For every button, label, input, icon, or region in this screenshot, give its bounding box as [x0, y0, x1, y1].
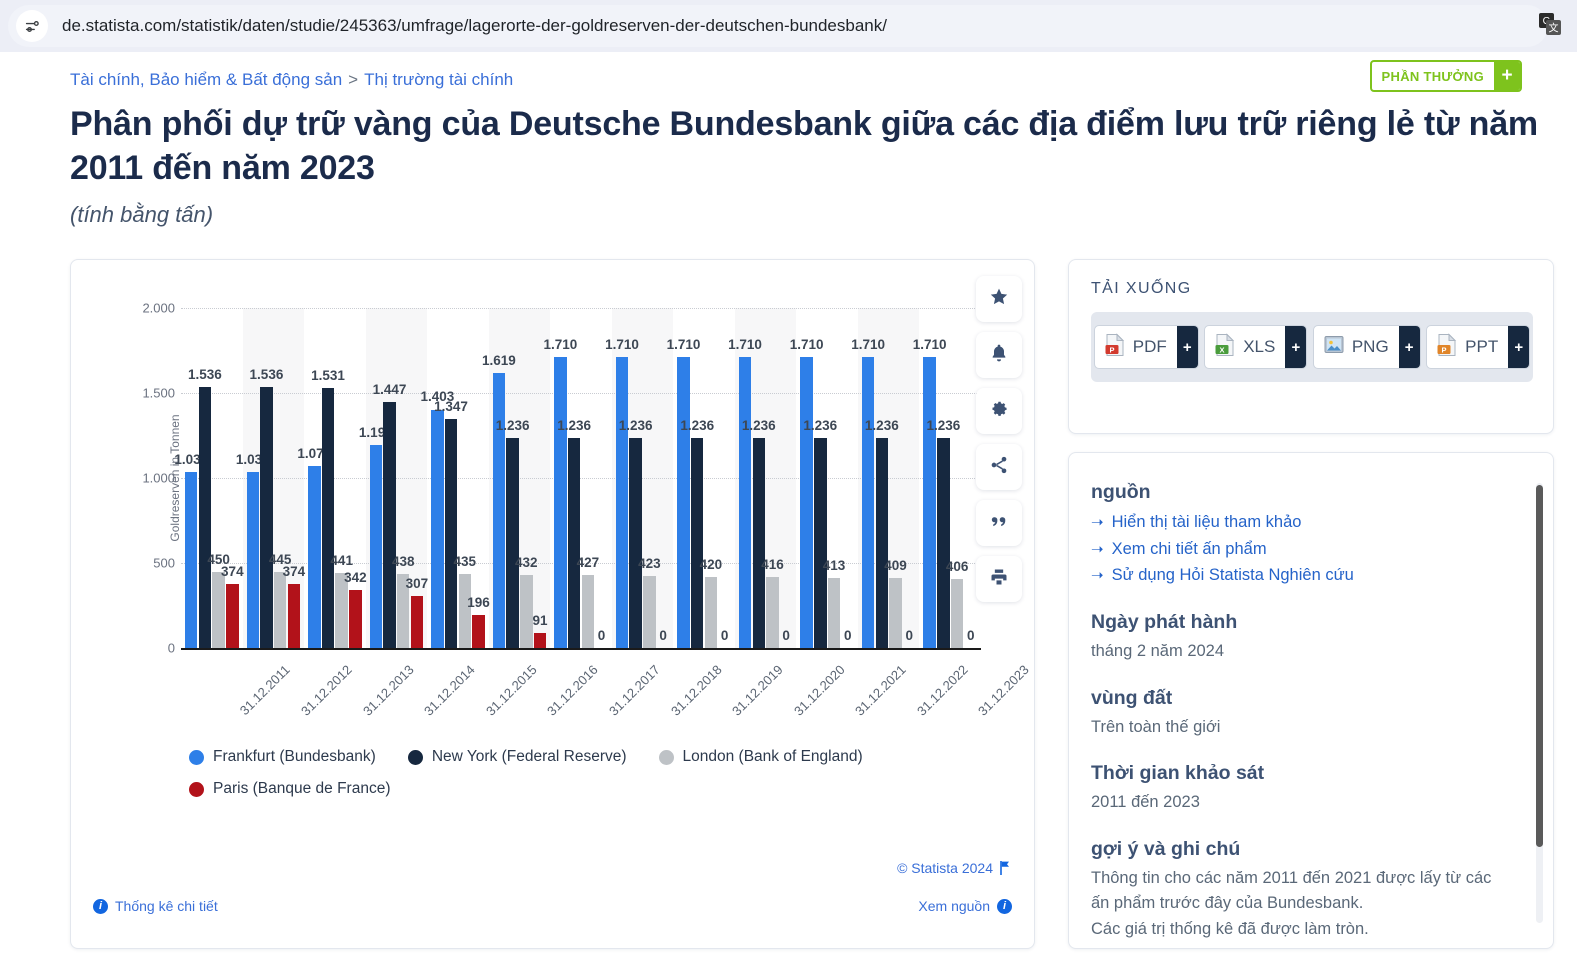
- chart-tool-buttons: [976, 276, 1022, 602]
- release-date-heading: Ngày phát hành: [1091, 611, 1501, 634]
- legend-label: London (Bank of England): [683, 748, 863, 766]
- notes-heading: gợi ý và ghi chú: [1091, 838, 1501, 861]
- chart-bar[interactable]: [459, 574, 472, 648]
- scrollbar-thumb[interactable]: [1536, 485, 1543, 847]
- download-card: TẢI XUỐNG PPDF+XXLS+PNG+PPPT+: [1068, 259, 1554, 434]
- legend-item[interactable]: London (Bank of England): [659, 748, 863, 766]
- chart-bar-value-label: 432: [498, 555, 554, 570]
- flag-icon[interactable]: [1000, 861, 1012, 875]
- download-ppt-button[interactable]: PPPT+: [1426, 325, 1530, 369]
- legend-item[interactable]: Paris (Banque de France): [189, 780, 390, 798]
- detail-stats-link[interactable]: i Thống kê chi tiết: [93, 898, 218, 914]
- chart-bar-value-label: 1.710: [594, 337, 650, 352]
- source-link-1[interactable]: ➝ Xem chi tiết ấn phẩm: [1091, 536, 1501, 563]
- x-axis-tick-label: 31.12.2022: [914, 662, 971, 719]
- chart-bar[interactable]: [629, 438, 642, 648]
- bell-icon: [989, 343, 1009, 368]
- chart-bar[interactable]: [800, 357, 813, 648]
- download-options-plus[interactable]: +: [1399, 326, 1420, 368]
- pdf-file-icon: P: [1104, 333, 1126, 362]
- url-text: de.statista.com/statistik/daten/studie/2…: [62, 16, 887, 36]
- chart-bar[interactable]: [288, 584, 301, 648]
- settings-button[interactable]: [976, 388, 1022, 434]
- chart-bar-value-label: 1.710: [840, 337, 896, 352]
- reward-button-label: PHẦN THƯỞNG: [1372, 62, 1494, 90]
- chart-bar-value-label: 1.710: [717, 337, 773, 352]
- download-button-label: PPT: [1465, 337, 1498, 357]
- chart-bar-value-label: 423: [621, 556, 677, 571]
- chart-bar-value-label: 1.347: [423, 399, 479, 414]
- chart-bar[interactable]: [753, 438, 766, 648]
- source-link-label: Xem chi tiết ấn phẩm: [1112, 536, 1267, 563]
- chart-bar[interactable]: [431, 410, 444, 649]
- address-bar[interactable]: de.statista.com/statistik/daten/studie/2…: [8, 5, 1548, 47]
- svg-text:P: P: [1109, 345, 1114, 354]
- chart-bar[interactable]: [212, 572, 225, 649]
- download-xls-button[interactable]: XXLS+: [1204, 325, 1307, 369]
- chart-bar-value-label: 1.236: [915, 418, 971, 433]
- chart-bar[interactable]: [616, 357, 629, 648]
- chart-bar-value-label: 1.236: [731, 418, 787, 433]
- svg-text:X: X: [1220, 345, 1225, 354]
- chart-bar-value-label: 1.619: [471, 353, 527, 368]
- legend-item[interactable]: New York (Federal Reserve): [408, 748, 627, 766]
- chart-bar[interactable]: [568, 438, 581, 648]
- chart-bar[interactable]: [274, 572, 287, 648]
- chart-bar[interactable]: [520, 575, 533, 648]
- svg-text:文: 文: [1549, 22, 1559, 35]
- x-axis-tick-label: 31.12.2018: [668, 662, 725, 719]
- scrollbar-track[interactable]: [1536, 483, 1543, 923]
- view-source-link[interactable]: Xem nguồn i: [918, 898, 1012, 914]
- page-subtitle: (tính bằng tấn): [70, 202, 213, 228]
- chart-bar[interactable]: [199, 387, 212, 648]
- browser-toolbar: de.statista.com/statistik/daten/studie/2…: [0, 0, 1577, 52]
- y-axis-tick-label: 2.000: [85, 301, 175, 316]
- chart-bar-value-label: 1.710: [779, 337, 835, 352]
- chart-bar[interactable]: [923, 357, 936, 648]
- x-axis-line: [181, 648, 981, 650]
- chart-bar[interactable]: [411, 596, 424, 648]
- download-button-label: XLS: [1243, 337, 1275, 357]
- chart-bar-value-label: 1.536: [238, 367, 294, 382]
- metadata-card: nguồn ➝ Hiển thị tài liệu tham khảo ➝ Xe…: [1068, 452, 1554, 949]
- reward-button[interactable]: PHẦN THƯỞNG +: [1370, 60, 1522, 92]
- chart-bar[interactable]: [739, 357, 752, 648]
- chart-bar-value-label: 1.236: [546, 418, 602, 433]
- chart-bar-value-label: 441: [314, 553, 370, 568]
- copyright-text: © Statista 2024: [897, 860, 1012, 876]
- chart-bar[interactable]: [814, 438, 827, 648]
- download-title: TẢI XUỐNG: [1091, 280, 1192, 298]
- legend-item[interactable]: Frankfurt (Bundesbank): [189, 748, 376, 766]
- print-icon: [989, 567, 1009, 592]
- chart-bar-value-label: 1.236: [669, 418, 725, 433]
- notes-line-1: Thông tin cho các năm 2011 đến 2021 được…: [1091, 866, 1501, 917]
- download-png-button[interactable]: PNG+: [1313, 325, 1421, 369]
- y-axis-title: Goldreserven in Tonnen: [168, 414, 182, 541]
- info-icon: i: [997, 899, 1012, 914]
- chart-bar-value-label: 1.236: [608, 418, 664, 433]
- y-axis-tick-label: 500: [85, 556, 175, 571]
- release-date-value: tháng 2 năm 2024: [1091, 639, 1501, 665]
- page-title: Phân phối dự trữ vàng của Deutsche Bunde…: [70, 102, 1550, 190]
- x-axis-tick-label: 31.12.2015: [483, 662, 540, 719]
- y-axis-tick-label: 1.000: [85, 471, 175, 486]
- alert-button[interactable]: [976, 332, 1022, 378]
- png-file-icon: [1323, 333, 1345, 362]
- chart-bar[interactable]: [677, 357, 690, 648]
- source-link-label: Hiển thị tài liệu tham khảo: [1112, 509, 1302, 536]
- chart-bar[interactable]: [691, 438, 704, 648]
- legend-row: Frankfurt (Bundesbank)New York (Federal …: [189, 748, 989, 766]
- region-heading: vùng đất: [1091, 687, 1501, 710]
- chart-bar-value-label: 1.236: [854, 418, 910, 433]
- download-options-plus[interactable]: +: [1177, 326, 1198, 368]
- chart-bar[interactable]: [260, 387, 273, 648]
- chart-bar-value-label: 409: [868, 558, 924, 573]
- favorite-button[interactable]: [976, 276, 1022, 322]
- info-icon: i: [93, 899, 108, 914]
- survey-period-value: 2011 đến 2023: [1091, 790, 1501, 816]
- x-axis-tick-label: 31.12.2019: [729, 662, 786, 719]
- legend-row: Paris (Banque de France): [189, 780, 989, 798]
- chart-bar[interactable]: [226, 584, 239, 648]
- ppt-file-icon: P: [1436, 333, 1458, 362]
- x-axis-tick-label: 31.12.2017: [606, 662, 663, 719]
- copyright-label: © Statista 2024: [897, 860, 993, 876]
- chart-bar[interactable]: [534, 633, 547, 648]
- legend-label: Paris (Banque de France): [213, 780, 390, 798]
- chart-bar[interactable]: [322, 388, 335, 648]
- download-buttons-row: PPDF+XXLS+PNG+PPPT+: [1091, 312, 1533, 382]
- chart-bar-value-label: 420: [683, 557, 739, 572]
- chart-bar-value-label: 1.236: [792, 418, 848, 433]
- breadcrumb-separator: >: [348, 70, 358, 89]
- legend-color-dot: [408, 750, 423, 765]
- download-button-label: PDF: [1133, 337, 1167, 357]
- quote-icon: [989, 511, 1009, 536]
- chart-bar[interactable]: [383, 402, 396, 648]
- chart-bar[interactable]: [493, 373, 506, 648]
- gear-icon: [989, 399, 1009, 424]
- breadcrumb-item-1[interactable]: Thị trường tài chính: [364, 70, 513, 89]
- svg-text:P: P: [1442, 345, 1447, 354]
- legend-label: Frankfurt (Bundesbank): [213, 748, 376, 766]
- star-icon: [989, 287, 1009, 312]
- reward-plus-icon[interactable]: +: [1494, 62, 1520, 90]
- chart-bar-value-label: 0: [943, 628, 999, 643]
- chart-bar-value-label: 1.536: [177, 367, 233, 382]
- chart-bar[interactable]: [937, 438, 950, 648]
- chart-bar[interactable]: [554, 357, 567, 648]
- chart-bar-value-label: 1.531: [300, 368, 356, 383]
- print-button[interactable]: [976, 556, 1022, 602]
- download-options-plus[interactable]: +: [1285, 326, 1306, 368]
- xls-file-icon: X: [1214, 333, 1236, 362]
- breadcrumb-item-0[interactable]: Tài chính, Bảo hiểm & Bất động sản: [70, 70, 342, 89]
- legend-color-dot: [659, 750, 674, 765]
- x-axis-tick-label: 31.12.2021: [852, 662, 909, 719]
- x-axis-tick-label: 31.12.2014: [421, 662, 478, 719]
- arrow-right-icon: ➝: [1091, 511, 1104, 535]
- chart-legend: Frankfurt (Bundesbank)New York (Federal …: [189, 748, 989, 812]
- source-link-0[interactable]: ➝ Hiển thị tài liệu tham khảo: [1091, 509, 1501, 536]
- x-axis-tick-label: 31.12.2016: [545, 662, 602, 719]
- arrow-right-icon: ➝: [1091, 564, 1104, 588]
- chart-bar-value-label: 427: [560, 555, 616, 570]
- notes-line-2: Các giá trị thống kê đã được làm tròn.: [1091, 917, 1501, 943]
- y-axis-tick-label: 1.500: [85, 386, 175, 401]
- page-content: Tài chính, Bảo hiểm & Bất động sản>Thị t…: [0, 52, 1577, 957]
- legend-color-dot: [189, 782, 204, 797]
- x-axis-tick-label: 31.12.2012: [298, 662, 355, 719]
- legend-color-dot: [189, 750, 204, 765]
- breadcrumb: Tài chính, Bảo hiểm & Bất động sản>Thị t…: [70, 70, 513, 90]
- chart-bar-value-label: 416: [744, 557, 800, 572]
- download-options-plus[interactable]: +: [1508, 326, 1529, 368]
- chart-bar[interactable]: [472, 615, 485, 648]
- source-heading: nguồn: [1091, 481, 1501, 504]
- x-axis-tick-label: 31.12.2013: [360, 662, 417, 719]
- survey-period-heading: Thời gian khảo sát: [1091, 762, 1501, 785]
- chart-bar-value-label: 1.710: [532, 337, 588, 352]
- cite-button[interactable]: [976, 500, 1022, 546]
- chart-bar[interactable]: [862, 357, 875, 648]
- chart-gridline: [181, 308, 981, 309]
- x-axis-tick-label: 31.12.2011: [237, 662, 293, 718]
- page-settings-icon[interactable]: [16, 10, 48, 42]
- download-pdf-button[interactable]: PPDF+: [1094, 325, 1199, 369]
- x-axis-tick-label: 31.12.2023: [975, 662, 1032, 719]
- chart-card: 05001.0001.5002.000Goldreserven in Tonne…: [70, 259, 1035, 949]
- share-icon: [989, 455, 1009, 480]
- chart-bar[interactable]: [876, 438, 889, 648]
- chart-bar-value-label: 1.710: [656, 337, 712, 352]
- translate-icon[interactable]: G 文: [1537, 11, 1563, 37]
- y-axis-tick-label: 0: [85, 641, 175, 656]
- chart-bar[interactable]: [370, 445, 383, 648]
- source-link-2[interactable]: ➝ Sử dụng Hỏi Statista Nghiên cứu: [1091, 562, 1501, 589]
- source-link-label: Sử dụng Hỏi Statista Nghiên cứu: [1112, 562, 1354, 589]
- chart-bar-value-label: 413: [806, 558, 862, 573]
- view-source-label: Xem nguồn: [918, 898, 990, 914]
- arrow-right-icon: ➝: [1091, 538, 1104, 562]
- legend-label: New York (Federal Reserve): [432, 748, 627, 766]
- chart-bar-value-label: 1.236: [485, 418, 541, 433]
- chart-bar-value-label: 435: [437, 554, 493, 569]
- detail-stats-label: Thống kê chi tiết: [115, 898, 218, 914]
- chart-plot-area: 05001.0001.5002.000Goldreserven in Tonne…: [181, 308, 981, 648]
- chart-bar-value-label: 438: [375, 554, 431, 569]
- region-value: Trên toàn thế giới: [1091, 715, 1501, 741]
- x-axis-tick-label: 31.12.2020: [791, 662, 848, 719]
- chart-bar[interactable]: [445, 419, 458, 648]
- chart-bar-value-label: 1.710: [902, 337, 958, 352]
- download-button-label: PNG: [1352, 337, 1389, 357]
- chart-bar[interactable]: [349, 590, 362, 648]
- share-button[interactable]: [976, 444, 1022, 490]
